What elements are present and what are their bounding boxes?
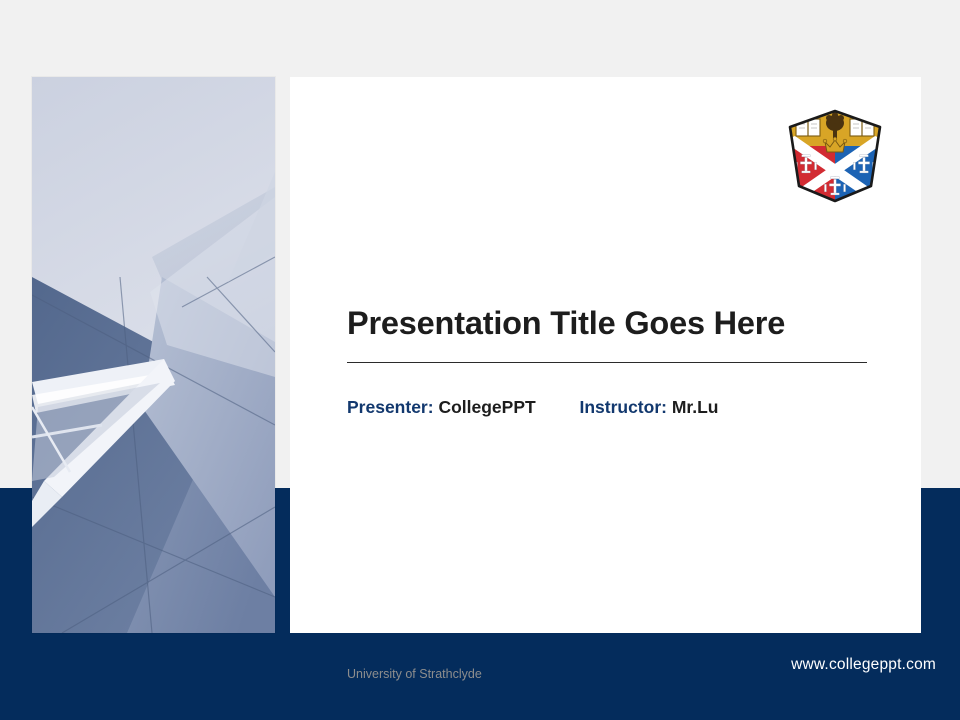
university-caption: University of Strathclyde (347, 667, 482, 681)
university-of-strathclyde-crest-icon (783, 108, 887, 204)
instructor-label: Instructor: (579, 397, 667, 417)
footer-url[interactable]: www.collegeppt.com (791, 656, 936, 674)
title-divider (347, 362, 867, 363)
slide-content-card: Presentation Title Goes Here Presenter: … (290, 77, 921, 633)
title-block: Presentation Title Goes Here (347, 305, 867, 363)
crest-graphic (783, 108, 887, 204)
architecture-photo-graphic (32, 77, 275, 633)
presenter-label: Presenter: (347, 397, 434, 417)
slide-canvas: www.collegeppt.com (0, 0, 960, 720)
byline: Presenter: CollegePPT Instructor: Mr.Lu (347, 397, 719, 418)
instructor-value: Mr.Lu (672, 397, 719, 417)
architecture-abstract-photo (32, 77, 275, 633)
page-title: Presentation Title Goes Here (347, 305, 867, 342)
presenter-value: CollegePPT (438, 397, 535, 417)
